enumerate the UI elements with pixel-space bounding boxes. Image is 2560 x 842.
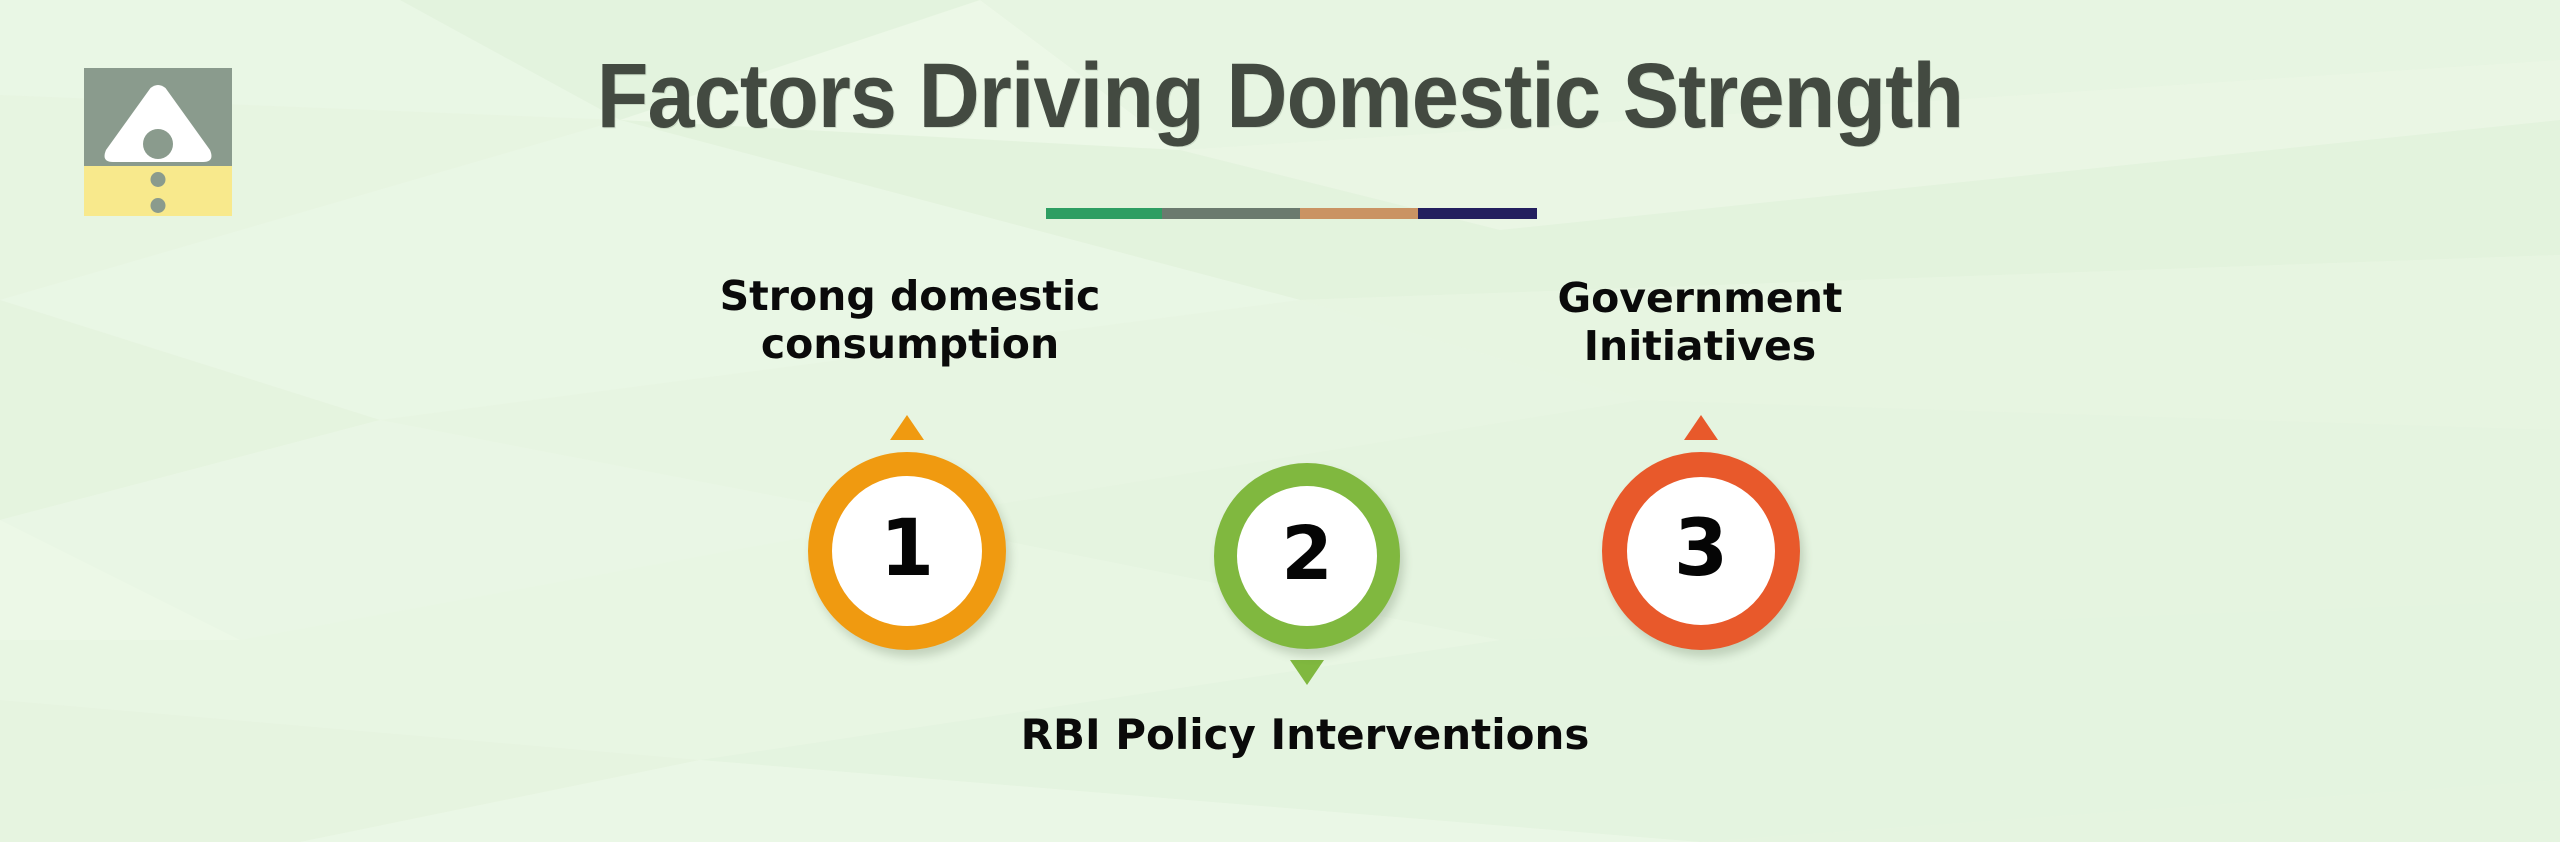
node-1-label-line-2: consumption: [660, 320, 1160, 368]
node-1-label-line-1: Strong domestic: [660, 272, 1160, 320]
divider-segment-gray: [1162, 208, 1300, 219]
page-title: Factors Driving Domestic Strength: [102, 48, 2457, 145]
node-1-label: Strong domestic consumption: [660, 272, 1160, 369]
slide-canvas: Factors Driving Domestic Strength Strong…: [0, 0, 2560, 842]
node-1-number: 1: [880, 510, 934, 588]
divider-segment-navy: [1418, 208, 1537, 219]
node-3-label: Government Initiatives: [1460, 274, 1940, 371]
node-circle-3[interactable]: 3: [1602, 452, 1800, 650]
divider-segment-green: [1046, 208, 1162, 219]
logo-dot-lower: [151, 198, 166, 213]
node-circle-1[interactable]: 1: [808, 452, 1006, 650]
node-3-label-line-2: Initiatives: [1460, 322, 1940, 370]
node-circle-2[interactable]: 2: [1214, 463, 1400, 649]
node-2-label-line-1: RBI Policy Interventions: [930, 710, 1680, 760]
logo-dot-upper: [151, 172, 166, 187]
node-3-number: 3: [1674, 510, 1728, 588]
title-divider-bar: [1046, 208, 1537, 219]
node-3-label-line-1: Government: [1460, 274, 1940, 322]
node-2-number: 2: [1281, 517, 1333, 591]
divider-segment-tan: [1300, 208, 1418, 219]
node-2-pointer-down-icon: [1290, 660, 1324, 685]
node-1-pointer-up-icon: [890, 415, 924, 440]
node-2-label: RBI Policy Interventions: [930, 710, 1680, 760]
node-3-pointer-up-icon: [1684, 415, 1718, 440]
